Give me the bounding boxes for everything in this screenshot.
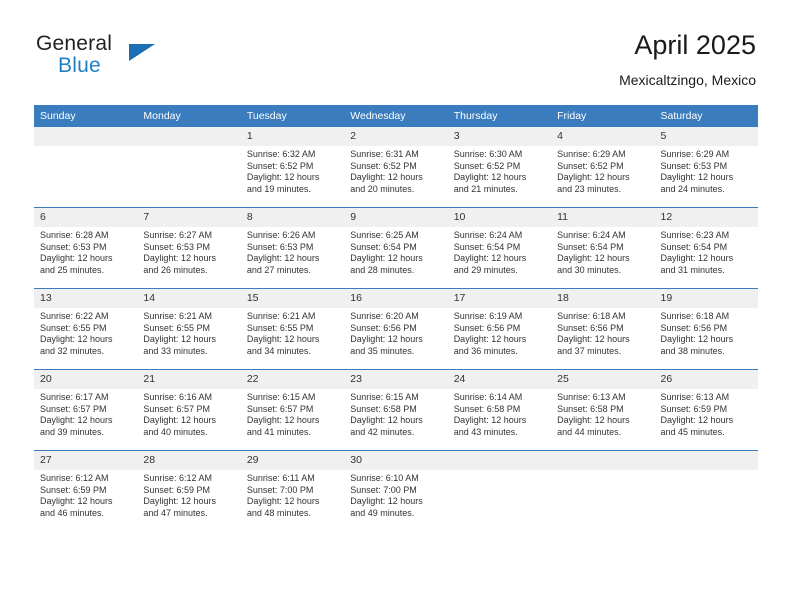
day-detail-line: Sunset: 6:52 PM: [247, 161, 336, 173]
day-detail-text: Sunrise: 6:30 AMSunset: 6:52 PMDaylight:…: [448, 146, 551, 195]
day-detail-line: Sunset: 6:56 PM: [661, 323, 750, 335]
day-detail-line: and 39 minutes.: [40, 427, 129, 439]
day-detail-line: and 27 minutes.: [247, 265, 336, 277]
day-detail-line: and 24 minutes.: [661, 184, 750, 196]
calendar-day-cell[interactable]: 6Sunrise: 6:28 AMSunset: 6:53 PMDaylight…: [34, 208, 137, 289]
day-detail-text: Sunrise: 6:12 AMSunset: 6:59 PMDaylight:…: [137, 470, 240, 519]
day-number: 8: [241, 208, 344, 227]
day-detail-line: and 28 minutes.: [350, 265, 439, 277]
day-detail-line: Daylight: 12 hours: [557, 253, 646, 265]
day-detail-text: Sunrise: 6:15 AMSunset: 6:58 PMDaylight:…: [344, 389, 447, 438]
day-detail-line: and 30 minutes.: [557, 265, 646, 277]
calendar-day-cell[interactable]: 23Sunrise: 6:15 AMSunset: 6:58 PMDayligh…: [344, 370, 447, 451]
day-detail-line: Daylight: 12 hours: [40, 334, 129, 346]
day-detail-line: Sunrise: 6:24 AM: [454, 230, 543, 242]
day-detail-text: Sunrise: 6:23 AMSunset: 6:54 PMDaylight:…: [655, 227, 758, 276]
day-detail-line: Daylight: 12 hours: [40, 415, 129, 427]
day-number: 21: [137, 370, 240, 389]
day-detail-line: Sunset: 6:53 PM: [661, 161, 750, 173]
day-detail-line: Sunset: 6:55 PM: [247, 323, 336, 335]
day-detail-text: Sunrise: 6:15 AMSunset: 6:57 PMDaylight:…: [241, 389, 344, 438]
day-detail-line: and 40 minutes.: [143, 427, 232, 439]
day-detail-line: Sunrise: 6:18 AM: [661, 311, 750, 323]
calendar-day-cell[interactable]: 14Sunrise: 6:21 AMSunset: 6:55 PMDayligh…: [137, 289, 240, 370]
day-detail-text: [34, 146, 137, 149]
day-detail-line: Daylight: 12 hours: [350, 496, 439, 508]
day-number: 3: [448, 127, 551, 146]
day-detail-line: Sunrise: 6:18 AM: [557, 311, 646, 323]
day-detail-line: Sunset: 6:54 PM: [454, 242, 543, 254]
calendar-day-cell[interactable]: 11Sunrise: 6:24 AMSunset: 6:54 PMDayligh…: [551, 208, 654, 289]
day-detail-line: Sunrise: 6:13 AM: [661, 392, 750, 404]
day-detail-line: Sunset: 6:54 PM: [557, 242, 646, 254]
weekday-header-friday: Friday: [551, 105, 654, 127]
day-number: 9: [344, 208, 447, 227]
day-detail-line: Sunset: 6:59 PM: [40, 485, 129, 497]
day-detail-line: Sunset: 6:52 PM: [350, 161, 439, 173]
day-detail-line: and 46 minutes.: [40, 508, 129, 520]
day-detail-text: Sunrise: 6:19 AMSunset: 6:56 PMDaylight:…: [448, 308, 551, 357]
weekday-header-row: Sunday Monday Tuesday Wednesday Thursday…: [34, 105, 758, 127]
day-number: 10: [448, 208, 551, 227]
day-detail-line: Sunrise: 6:23 AM: [661, 230, 750, 242]
day-detail-line: and 45 minutes.: [661, 427, 750, 439]
calendar-empty-cell: [137, 127, 240, 208]
day-detail-line: and 42 minutes.: [350, 427, 439, 439]
day-detail-text: Sunrise: 6:17 AMSunset: 6:57 PMDaylight:…: [34, 389, 137, 438]
day-detail-line: Daylight: 12 hours: [40, 253, 129, 265]
page-header: General Blue April 2025 Mexicaltzingo, M…: [0, 0, 792, 103]
day-detail-line: Sunset: 6:56 PM: [454, 323, 543, 335]
day-detail-line: Sunrise: 6:32 AM: [247, 149, 336, 161]
day-detail-line: Sunrise: 6:10 AM: [350, 473, 439, 485]
day-detail-line: and 26 minutes.: [143, 265, 232, 277]
calendar-grid: Sunday Monday Tuesday Wednesday Thursday…: [34, 105, 758, 531]
day-number: 20: [34, 370, 137, 389]
day-detail-line: Sunrise: 6:25 AM: [350, 230, 439, 242]
day-detail-text: Sunrise: 6:31 AMSunset: 6:52 PMDaylight:…: [344, 146, 447, 195]
day-detail-line: and 19 minutes.: [247, 184, 336, 196]
day-number: 18: [551, 289, 654, 308]
calendar-day-cell[interactable]: 28Sunrise: 6:12 AMSunset: 6:59 PMDayligh…: [137, 451, 240, 532]
calendar-day-cell[interactable]: 9Sunrise: 6:25 AMSunset: 6:54 PMDaylight…: [344, 208, 447, 289]
day-detail-line: Sunrise: 6:21 AM: [247, 311, 336, 323]
calendar-day-cell[interactable]: 3Sunrise: 6:30 AMSunset: 6:52 PMDaylight…: [448, 127, 551, 208]
day-detail-text: Sunrise: 6:27 AMSunset: 6:53 PMDaylight:…: [137, 227, 240, 276]
day-detail-line: Sunrise: 6:16 AM: [143, 392, 232, 404]
calendar-page: General Blue April 2025 Mexicaltzingo, M…: [0, 0, 792, 612]
calendar-week-row: 27Sunrise: 6:12 AMSunset: 6:59 PMDayligh…: [34, 451, 758, 532]
day-detail-text: Sunrise: 6:24 AMSunset: 6:54 PMDaylight:…: [551, 227, 654, 276]
day-detail-line: Sunset: 7:00 PM: [350, 485, 439, 497]
day-detail-line: Sunrise: 6:29 AM: [557, 149, 646, 161]
day-detail-line: and 31 minutes.: [661, 265, 750, 277]
day-detail-line: Sunrise: 6:27 AM: [143, 230, 232, 242]
day-detail-text: Sunrise: 6:10 AMSunset: 7:00 PMDaylight:…: [344, 470, 447, 519]
day-detail-line: Sunset: 6:58 PM: [557, 404, 646, 416]
day-detail-line: Sunset: 6:57 PM: [143, 404, 232, 416]
day-detail-line: Daylight: 12 hours: [454, 253, 543, 265]
calendar-empty-cell: [655, 451, 758, 532]
calendar-empty-cell: [34, 127, 137, 208]
calendar-day-cell[interactable]: 30Sunrise: 6:10 AMSunset: 7:00 PMDayligh…: [344, 451, 447, 532]
day-detail-line: Daylight: 12 hours: [454, 334, 543, 346]
day-number: 12: [655, 208, 758, 227]
day-detail-text: [448, 470, 551, 473]
day-detail-line: Daylight: 12 hours: [247, 334, 336, 346]
calendar-body: 1Sunrise: 6:32 AMSunset: 6:52 PMDaylight…: [34, 127, 758, 531]
weekday-header-thursday: Thursday: [448, 105, 551, 127]
day-detail-line: Sunrise: 6:19 AM: [454, 311, 543, 323]
day-detail-line: and 21 minutes.: [454, 184, 543, 196]
weekday-header-tuesday: Tuesday: [241, 105, 344, 127]
day-number: 27: [34, 451, 137, 470]
calendar-day-cell[interactable]: 20Sunrise: 6:17 AMSunset: 6:57 PMDayligh…: [34, 370, 137, 451]
day-detail-line: Daylight: 12 hours: [247, 253, 336, 265]
day-detail-line: Sunrise: 6:24 AM: [557, 230, 646, 242]
calendar-day-cell[interactable]: 5Sunrise: 6:29 AMSunset: 6:53 PMDaylight…: [655, 127, 758, 208]
day-detail-line: and 23 minutes.: [557, 184, 646, 196]
calendar-day-cell[interactable]: 13Sunrise: 6:22 AMSunset: 6:55 PMDayligh…: [34, 289, 137, 370]
day-detail-line: Daylight: 12 hours: [143, 496, 232, 508]
day-detail-line: Sunrise: 6:12 AM: [40, 473, 129, 485]
day-number: 16: [344, 289, 447, 308]
day-detail-line: Sunset: 6:54 PM: [350, 242, 439, 254]
day-number: 17: [448, 289, 551, 308]
day-detail-line: Daylight: 12 hours: [350, 253, 439, 265]
day-detail-line: Daylight: 12 hours: [557, 172, 646, 184]
calendar-day-cell[interactable]: 4Sunrise: 6:29 AMSunset: 6:52 PMDaylight…: [551, 127, 654, 208]
day-number: 11: [551, 208, 654, 227]
day-detail-text: Sunrise: 6:28 AMSunset: 6:53 PMDaylight:…: [34, 227, 137, 276]
day-detail-line: and 20 minutes.: [350, 184, 439, 196]
day-detail-line: Sunrise: 6:15 AM: [350, 392, 439, 404]
day-detail-line: Daylight: 12 hours: [454, 172, 543, 184]
day-detail-text: Sunrise: 6:21 AMSunset: 6:55 PMDaylight:…: [137, 308, 240, 357]
day-detail-line: Sunrise: 6:22 AM: [40, 311, 129, 323]
day-detail-line: Sunrise: 6:15 AM: [247, 392, 336, 404]
day-detail-line: Daylight: 12 hours: [350, 334, 439, 346]
day-detail-line: Sunset: 6:54 PM: [661, 242, 750, 254]
day-detail-text: Sunrise: 6:11 AMSunset: 7:00 PMDaylight:…: [241, 470, 344, 519]
day-detail-line: Sunrise: 6:11 AM: [247, 473, 336, 485]
day-detail-line: and 44 minutes.: [557, 427, 646, 439]
day-detail-line: and 36 minutes.: [454, 346, 543, 358]
day-number: 24: [448, 370, 551, 389]
day-detail-line: and 49 minutes.: [350, 508, 439, 520]
day-detail-text: Sunrise: 6:20 AMSunset: 6:56 PMDaylight:…: [344, 308, 447, 357]
calendar-week-row: 6Sunrise: 6:28 AMSunset: 6:53 PMDaylight…: [34, 208, 758, 289]
calendar-day-cell[interactable]: 25Sunrise: 6:13 AMSunset: 6:58 PMDayligh…: [551, 370, 654, 451]
day-detail-line: Sunset: 6:55 PM: [143, 323, 232, 335]
day-detail-line: Sunset: 6:55 PM: [40, 323, 129, 335]
day-detail-text: Sunrise: 6:32 AMSunset: 6:52 PMDaylight:…: [241, 146, 344, 195]
page-title: April 2025: [619, 28, 756, 62]
day-detail-text: Sunrise: 6:26 AMSunset: 6:53 PMDaylight:…: [241, 227, 344, 276]
day-number: [448, 451, 551, 470]
day-detail-line: Daylight: 12 hours: [557, 334, 646, 346]
day-detail-text: [137, 146, 240, 149]
day-detail-text: Sunrise: 6:18 AMSunset: 6:56 PMDaylight:…: [655, 308, 758, 357]
day-detail-line: and 47 minutes.: [143, 508, 232, 520]
logo-text-blue: Blue: [58, 54, 101, 78]
day-detail-line: Sunset: 6:57 PM: [247, 404, 336, 416]
day-detail-line: Sunset: 6:52 PM: [557, 161, 646, 173]
day-detail-text: Sunrise: 6:13 AMSunset: 6:59 PMDaylight:…: [655, 389, 758, 438]
calendar-day-cell[interactable]: 29Sunrise: 6:11 AMSunset: 7:00 PMDayligh…: [241, 451, 344, 532]
day-detail-text: Sunrise: 6:21 AMSunset: 6:55 PMDaylight:…: [241, 308, 344, 357]
day-detail-text: Sunrise: 6:24 AMSunset: 6:54 PMDaylight:…: [448, 227, 551, 276]
calendar-day-cell[interactable]: 17Sunrise: 6:19 AMSunset: 6:56 PMDayligh…: [448, 289, 551, 370]
day-detail-line: and 37 minutes.: [557, 346, 646, 358]
calendar-empty-cell: [551, 451, 654, 532]
general-blue-logo[interactable]: General Blue: [36, 32, 256, 84]
day-detail-line: Sunset: 6:58 PM: [454, 404, 543, 416]
day-detail-line: Sunset: 6:57 PM: [40, 404, 129, 416]
day-detail-line: Sunset: 6:52 PM: [454, 161, 543, 173]
day-detail-line: and 25 minutes.: [40, 265, 129, 277]
day-number: 2: [344, 127, 447, 146]
calendar-week-row: 20Sunrise: 6:17 AMSunset: 6:57 PMDayligh…: [34, 370, 758, 451]
day-detail-text: Sunrise: 6:29 AMSunset: 6:52 PMDaylight:…: [551, 146, 654, 195]
calendar-day-cell[interactable]: 10Sunrise: 6:24 AMSunset: 6:54 PMDayligh…: [448, 208, 551, 289]
title-block: April 2025 Mexicaltzingo, Mexico: [619, 28, 756, 90]
weekday-header-monday: Monday: [137, 105, 240, 127]
calendar-day-cell[interactable]: 18Sunrise: 6:18 AMSunset: 6:56 PMDayligh…: [551, 289, 654, 370]
day-detail-line: Sunrise: 6:30 AM: [454, 149, 543, 161]
day-detail-text: Sunrise: 6:12 AMSunset: 6:59 PMDaylight:…: [34, 470, 137, 519]
day-detail-line: Sunset: 6:58 PM: [350, 404, 439, 416]
day-detail-line: and 48 minutes.: [247, 508, 336, 520]
day-detail-text: Sunrise: 6:29 AMSunset: 6:53 PMDaylight:…: [655, 146, 758, 195]
day-number: [34, 127, 137, 146]
day-detail-line: Daylight: 12 hours: [350, 172, 439, 184]
calendar-day-cell[interactable]: 24Sunrise: 6:14 AMSunset: 6:58 PMDayligh…: [448, 370, 551, 451]
day-number: 5: [655, 127, 758, 146]
day-detail-line: and 32 minutes.: [40, 346, 129, 358]
logo-triangle-icon: [129, 44, 155, 61]
calendar-day-cell[interactable]: 27Sunrise: 6:12 AMSunset: 6:59 PMDayligh…: [34, 451, 137, 532]
calendar-day-cell[interactable]: 16Sunrise: 6:20 AMSunset: 6:56 PMDayligh…: [344, 289, 447, 370]
day-detail-line: and 41 minutes.: [247, 427, 336, 439]
calendar-day-cell[interactable]: 8Sunrise: 6:26 AMSunset: 6:53 PMDaylight…: [241, 208, 344, 289]
day-detail-text: Sunrise: 6:18 AMSunset: 6:56 PMDaylight:…: [551, 308, 654, 357]
calendar-day-cell[interactable]: 19Sunrise: 6:18 AMSunset: 6:56 PMDayligh…: [655, 289, 758, 370]
calendar-day-cell[interactable]: 26Sunrise: 6:13 AMSunset: 6:59 PMDayligh…: [655, 370, 758, 451]
day-detail-line: Sunrise: 6:17 AM: [40, 392, 129, 404]
day-detail-line: Sunrise: 6:29 AM: [661, 149, 750, 161]
day-number: 28: [137, 451, 240, 470]
day-detail-line: Daylight: 12 hours: [661, 334, 750, 346]
day-detail-line: Daylight: 12 hours: [557, 415, 646, 427]
day-number: 19: [655, 289, 758, 308]
day-detail-line: Sunset: 6:53 PM: [143, 242, 232, 254]
day-number: 1: [241, 127, 344, 146]
day-detail-text: Sunrise: 6:16 AMSunset: 6:57 PMDaylight:…: [137, 389, 240, 438]
day-detail-line: Sunrise: 6:21 AM: [143, 311, 232, 323]
day-detail-line: Sunrise: 6:26 AM: [247, 230, 336, 242]
day-detail-text: [655, 470, 758, 473]
day-number: 29: [241, 451, 344, 470]
calendar-day-cell[interactable]: 15Sunrise: 6:21 AMSunset: 6:55 PMDayligh…: [241, 289, 344, 370]
day-number: 26: [655, 370, 758, 389]
day-number: [551, 451, 654, 470]
day-detail-line: Daylight: 12 hours: [454, 415, 543, 427]
logo-text-general: General: [36, 32, 112, 56]
day-number: 22: [241, 370, 344, 389]
day-detail-line: Sunrise: 6:28 AM: [40, 230, 129, 242]
day-detail-text: Sunrise: 6:13 AMSunset: 6:58 PMDaylight:…: [551, 389, 654, 438]
day-number: 4: [551, 127, 654, 146]
day-detail-line: Daylight: 12 hours: [40, 496, 129, 508]
day-detail-line: and 29 minutes.: [454, 265, 543, 277]
day-number: 6: [34, 208, 137, 227]
day-detail-line: Sunset: 6:56 PM: [350, 323, 439, 335]
day-detail-line: Sunset: 6:56 PM: [557, 323, 646, 335]
day-detail-line: Daylight: 12 hours: [661, 172, 750, 184]
weekday-header-saturday: Saturday: [655, 105, 758, 127]
day-detail-line: Sunrise: 6:13 AM: [557, 392, 646, 404]
calendar-day-cell[interactable]: 2Sunrise: 6:31 AMSunset: 6:52 PMDaylight…: [344, 127, 447, 208]
day-number: [137, 127, 240, 146]
day-detail-line: and 38 minutes.: [661, 346, 750, 358]
day-detail-line: Daylight: 12 hours: [661, 253, 750, 265]
day-detail-line: Sunset: 6:53 PM: [40, 242, 129, 254]
day-number: [655, 451, 758, 470]
calendar-week-row: 1Sunrise: 6:32 AMSunset: 6:52 PMDaylight…: [34, 127, 758, 208]
day-detail-line: and 35 minutes.: [350, 346, 439, 358]
day-detail-text: [551, 470, 654, 473]
calendar-week-row: 13Sunrise: 6:22 AMSunset: 6:55 PMDayligh…: [34, 289, 758, 370]
calendar-day-cell[interactable]: 12Sunrise: 6:23 AMSunset: 6:54 PMDayligh…: [655, 208, 758, 289]
day-detail-line: Sunrise: 6:31 AM: [350, 149, 439, 161]
day-detail-line: Sunrise: 6:12 AM: [143, 473, 232, 485]
day-detail-line: Sunset: 7:00 PM: [247, 485, 336, 497]
day-number: 7: [137, 208, 240, 227]
day-detail-line: Daylight: 12 hours: [247, 172, 336, 184]
day-detail-line: Sunset: 6:53 PM: [247, 242, 336, 254]
day-number: 23: [344, 370, 447, 389]
day-detail-line: Sunrise: 6:14 AM: [454, 392, 543, 404]
weekday-header-wednesday: Wednesday: [344, 105, 447, 127]
day-detail-line: Sunrise: 6:20 AM: [350, 311, 439, 323]
day-number: 13: [34, 289, 137, 308]
day-detail-line: and 33 minutes.: [143, 346, 232, 358]
day-detail-line: Sunset: 6:59 PM: [143, 485, 232, 497]
calendar-day-cell[interactable]: 21Sunrise: 6:16 AMSunset: 6:57 PMDayligh…: [137, 370, 240, 451]
day-detail-line: Daylight: 12 hours: [143, 253, 232, 265]
day-number: 25: [551, 370, 654, 389]
day-detail-line: Daylight: 12 hours: [247, 496, 336, 508]
calendar-day-cell[interactable]: 7Sunrise: 6:27 AMSunset: 6:53 PMDaylight…: [137, 208, 240, 289]
day-detail-text: Sunrise: 6:22 AMSunset: 6:55 PMDaylight:…: [34, 308, 137, 357]
day-detail-line: and 43 minutes.: [454, 427, 543, 439]
day-detail-line: Daylight: 12 hours: [350, 415, 439, 427]
calendar-day-cell[interactable]: 1Sunrise: 6:32 AMSunset: 6:52 PMDaylight…: [241, 127, 344, 208]
weekday-header-sunday: Sunday: [34, 105, 137, 127]
calendar-empty-cell: [448, 451, 551, 532]
day-detail-line: and 34 minutes.: [247, 346, 336, 358]
day-detail-line: Daylight: 12 hours: [143, 415, 232, 427]
day-number: 15: [241, 289, 344, 308]
day-number: 14: [137, 289, 240, 308]
day-detail-line: Daylight: 12 hours: [661, 415, 750, 427]
day-detail-line: Daylight: 12 hours: [143, 334, 232, 346]
day-detail-text: Sunrise: 6:25 AMSunset: 6:54 PMDaylight:…: [344, 227, 447, 276]
calendar-day-cell[interactable]: 22Sunrise: 6:15 AMSunset: 6:57 PMDayligh…: [241, 370, 344, 451]
day-number: 30: [344, 451, 447, 470]
day-detail-line: Sunset: 6:59 PM: [661, 404, 750, 416]
page-subtitle-location: Mexicaltzingo, Mexico: [619, 70, 756, 90]
day-detail-text: Sunrise: 6:14 AMSunset: 6:58 PMDaylight:…: [448, 389, 551, 438]
day-detail-line: Daylight: 12 hours: [247, 415, 336, 427]
